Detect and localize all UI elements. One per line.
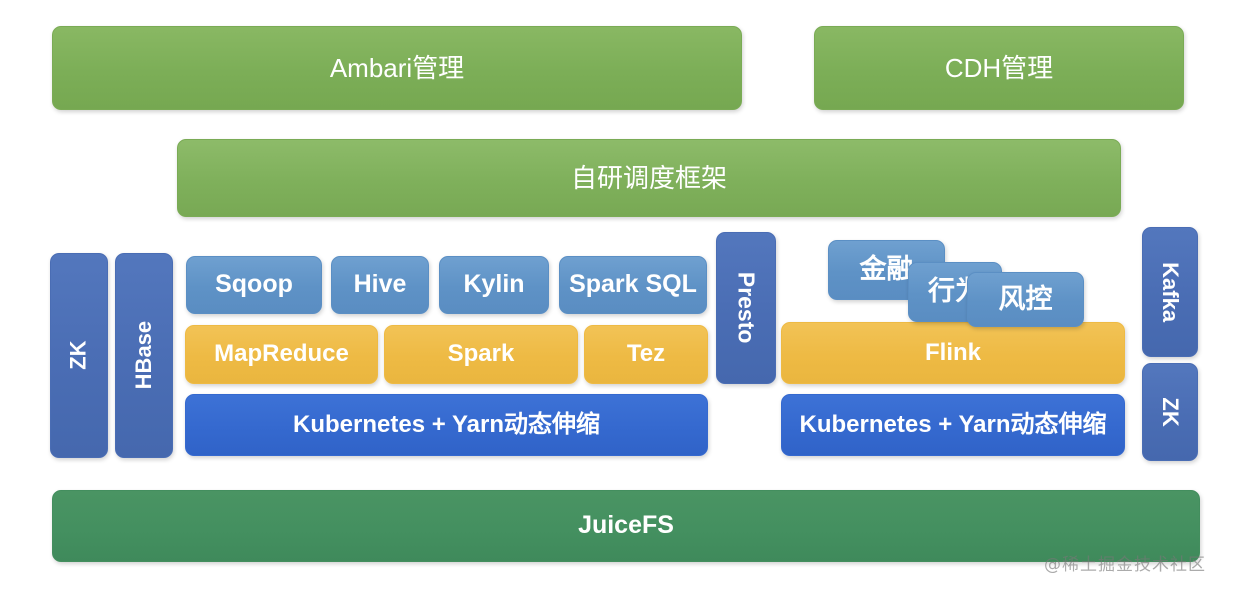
risk-control-app-box[interactable]: 风控 xyxy=(967,272,1084,327)
self-developed-scheduler-box[interactable]: 自研调度框架 xyxy=(177,139,1121,217)
tez-box[interactable]: Tez xyxy=(584,325,708,384)
zk-right-label: ZK xyxy=(1158,397,1182,426)
presto-box[interactable]: Presto xyxy=(716,232,776,384)
hbase-column[interactable]: HBase xyxy=(115,253,173,458)
kylin-label: Kylin xyxy=(463,271,524,299)
cdh-management-label: CDH管理 xyxy=(945,54,1053,83)
k8s-yarn-stream-box[interactable]: Kubernetes + Yarn动态伸缩 xyxy=(781,394,1125,456)
presto-label: Presto xyxy=(733,272,758,344)
juicefs-label: JuiceFS xyxy=(578,512,674,540)
zk-right-column[interactable]: ZK xyxy=(1142,363,1198,461)
spark-box[interactable]: Spark xyxy=(384,325,578,384)
hive-box[interactable]: Hive xyxy=(331,256,429,314)
finance-app-label: 金融 xyxy=(860,255,914,285)
flink-label: Flink xyxy=(925,340,981,366)
sqoop-label: Sqoop xyxy=(215,271,293,299)
ambari-management-label: Ambari管理 xyxy=(330,54,464,83)
zk-left-column[interactable]: ZK xyxy=(50,253,108,458)
ambari-management-box[interactable]: Ambari管理 xyxy=(52,26,742,110)
cdh-management-box[interactable]: CDH管理 xyxy=(814,26,1184,110)
spark-sql-label: Spark SQL xyxy=(569,271,697,299)
spark-label: Spark xyxy=(448,341,515,367)
mapreduce-label: MapReduce xyxy=(214,341,349,367)
flink-box[interactable]: Flink xyxy=(781,322,1125,384)
kylin-box[interactable]: Kylin xyxy=(439,256,549,314)
kafka-column[interactable]: Kafka xyxy=(1142,227,1198,357)
kafka-label: Kafka xyxy=(1158,262,1182,322)
sqoop-box[interactable]: Sqoop xyxy=(186,256,322,314)
hive-label: Hive xyxy=(354,271,407,299)
k8s-yarn-stream-label: Kubernetes + Yarn动态伸缩 xyxy=(800,412,1107,438)
juicefs-box[interactable]: JuiceFS xyxy=(52,490,1200,562)
watermark: @稀土掘金技术社区 xyxy=(1044,550,1206,575)
k8s-yarn-batch-box[interactable]: Kubernetes + Yarn动态伸缩 xyxy=(185,394,708,456)
scheduler-label: 自研调度框架 xyxy=(571,164,727,193)
tez-label: Tez xyxy=(627,341,665,367)
hbase-label: HBase xyxy=(132,321,156,389)
zk-left-label: ZK xyxy=(67,341,91,370)
spark-sql-box[interactable]: Spark SQL xyxy=(559,256,707,314)
mapreduce-box[interactable]: MapReduce xyxy=(185,325,378,384)
risk-control-app-label: 风控 xyxy=(999,285,1053,315)
k8s-yarn-batch-label: Kubernetes + Yarn动态伸缩 xyxy=(293,412,600,438)
architecture-diagram-canvas: Ambari管理 CDH管理 自研调度框架 ZK HBase Sqoop Hiv… xyxy=(0,0,1240,594)
